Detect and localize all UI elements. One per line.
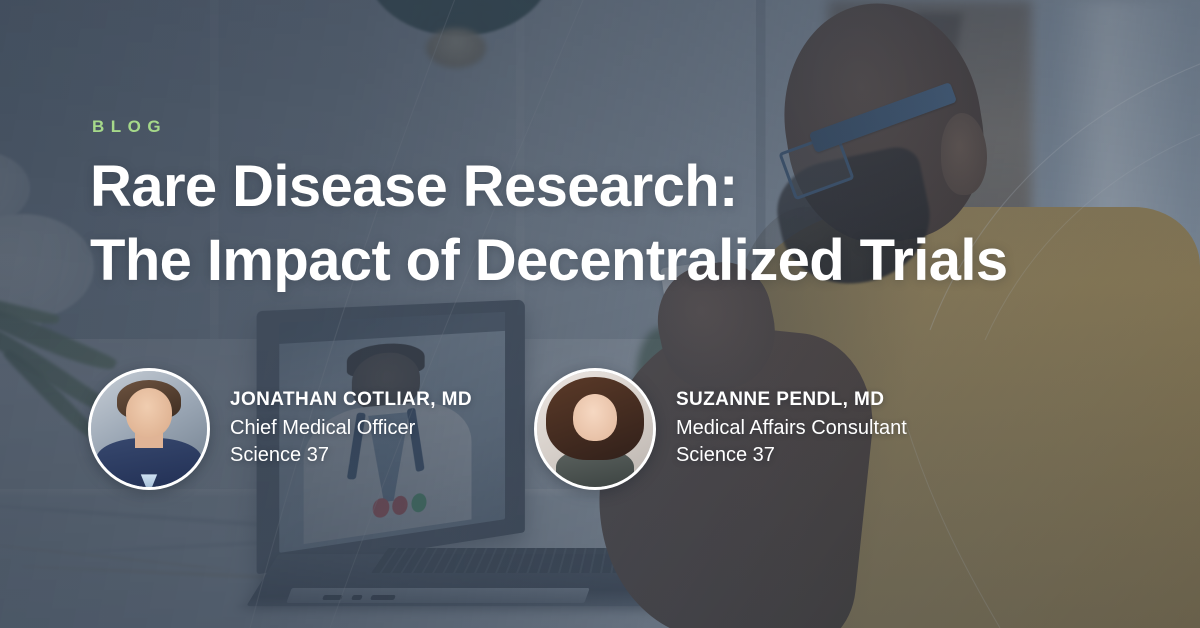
avatar [88,368,210,490]
title-line-1: Rare Disease Research: [90,150,1180,224]
speaker-details: JONATHAN COTLIAR, MD Chief Medical Offic… [230,389,472,468]
avatar-face [573,394,617,440]
avatar-dress-shirt [136,474,162,487]
speaker-list: JONATHAN COTLIAR, MD Chief Medical Offic… [88,368,907,490]
title-line-2: The Impact of Decentralized Trials [90,224,1180,298]
speaker-name: JONATHAN COTLIAR, MD [230,389,472,411]
category-label: BLOG [92,117,167,137]
speaker-card: SUZANNE PENDL, MD Medical Affairs Consul… [534,368,907,490]
speaker-name: SUZANNE PENDL, MD [676,389,907,411]
blog-banner: BLOG Rare Disease Research: The Impact o… [0,0,1200,628]
speaker-card: JONATHAN COTLIAR, MD Chief Medical Offic… [88,368,472,490]
avatar-face [126,388,172,437]
avatar [534,368,656,490]
page-title: Rare Disease Research: The Impact of Dec… [90,150,1180,297]
banner-content: BLOG Rare Disease Research: The Impact o… [0,0,1200,628]
speaker-role: Chief Medical Officer [230,415,472,442]
speaker-organization: Science 37 [230,442,472,469]
speaker-organization: Science 37 [676,442,907,469]
speaker-details: SUZANNE PENDL, MD Medical Affairs Consul… [676,389,907,468]
speaker-role: Medical Affairs Consultant [676,415,907,442]
